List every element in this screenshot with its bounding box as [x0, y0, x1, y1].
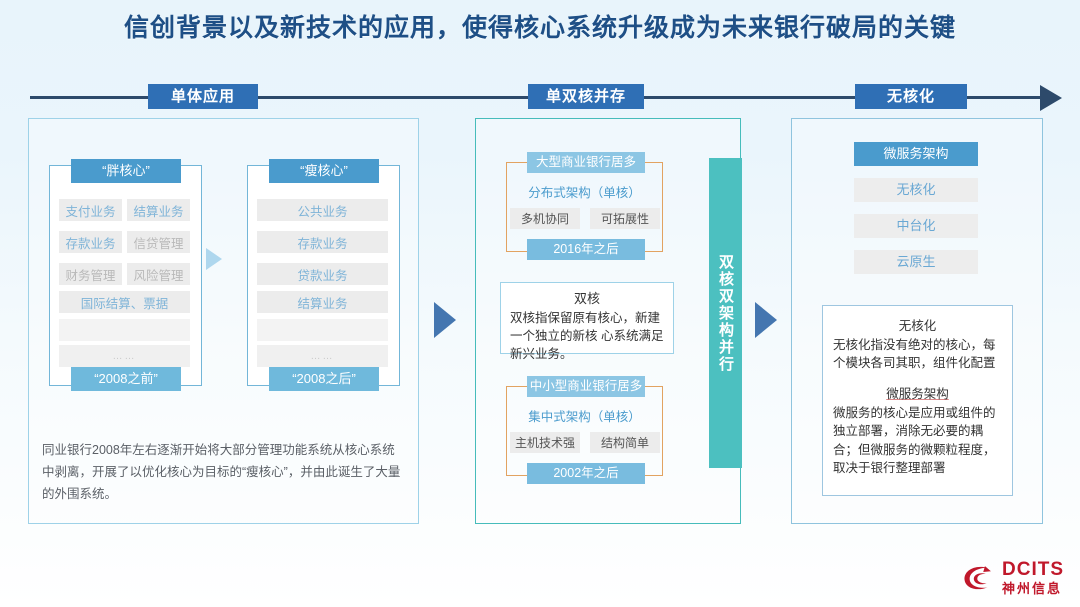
card-small-bank-footer: 2002年之后 — [527, 463, 645, 484]
fat-core-row-2: 存款业务 信贷管理 — [59, 231, 190, 253]
logo-cn: 神州信息 — [1002, 582, 1064, 595]
fat-core-row-4: 国际结算、票据 — [59, 291, 190, 313]
dual-core-title: 双核 — [501, 288, 673, 307]
phase-label-3[interactable]: 无核化 — [855, 84, 967, 109]
dcits-swirl-icon — [962, 562, 996, 594]
card-large-bank-footer: 2016年之后 — [527, 239, 645, 260]
fat-core-cell: 结算业务 — [127, 199, 190, 221]
thin-core-row: 公共业务 — [257, 199, 388, 221]
fat-core-cell: 信贷管理 — [127, 231, 190, 253]
logo-text: DCITS 神州信息 — [1002, 560, 1064, 595]
thin-core-cell-blank — [257, 319, 388, 341]
fat-core-cell: 存款业务 — [59, 231, 122, 253]
tag: 多机协同 — [510, 208, 580, 229]
fat-core-cell: 财务管理 — [59, 263, 122, 285]
card-thin-core: “瘦核心” 公共业务 存款业务 贷款业务 结算业务 …… “2008之后” — [247, 159, 400, 391]
card-small-bank: 中小型商业银行居多 集中式架构（单核） 主机技术强 结构简单 2002年之后 — [492, 376, 677, 484]
tag: 主机技术强 — [510, 432, 580, 453]
card-small-bank-tags: 主机技术强 结构简单 — [510, 432, 660, 453]
card-fat-core-footer: “2008之前” — [71, 367, 181, 391]
thin-core-row: 存款业务 — [257, 231, 388, 253]
fat-core-cell: 国际结算、票据 — [59, 291, 190, 313]
phase-label-2[interactable]: 单双核并存 — [528, 84, 644, 109]
card-fat-core: “胖核心” 支付业务 结算业务 存款业务 信贷管理 财务管理 风险管理 国际结算… — [49, 159, 202, 391]
phase-label-1[interactable]: 单体应用 — [148, 84, 258, 109]
thin-core-cell: 公共业务 — [257, 199, 388, 221]
card-thin-core-footer: “2008之后” — [269, 367, 379, 391]
logo-en: DCITS — [1002, 560, 1064, 579]
fat-core-row-3: 财务管理 风险管理 — [59, 263, 190, 285]
coreless-body-2: 微服务的核心是应用或组件的独立部署，消除无必要的耦合；但微服务的微颗粒程度，取决… — [823, 402, 1012, 477]
fat-core-row-blank — [59, 319, 190, 341]
thin-core-row: 结算业务 — [257, 291, 388, 313]
card-coreless-definition: 无核化 无核化指没有绝对的核心，每个模块各司其职，组件化配置 微服务架构 微服务… — [822, 305, 1013, 496]
thin-core-cell: 存款业务 — [257, 231, 388, 253]
right-card-title: 微服务架构 — [854, 142, 978, 166]
fat-core-cell-dots: …… — [59, 345, 190, 367]
right-item: 中台化 — [854, 214, 978, 238]
coreless-title-2: 微服务架构 — [823, 383, 1012, 402]
card-large-bank: 大型商业银行居多 分布式架构（单核） 多机协同 可拓展性 2016年之后 — [492, 152, 677, 260]
thin-core-cell: 结算业务 — [257, 291, 388, 313]
thin-core-row-dots: …… — [257, 345, 388, 367]
slide-root: 信创背景以及新技术的应用，使得核心系统升级成为未来银行破局的关键 单体应用 单双… — [0, 0, 1080, 607]
dual-core-body: 双核指保留原有核心，新建一个独立的新核 心系统满足新兴业务。 — [501, 307, 673, 363]
transition-arrow-icon — [206, 248, 222, 270]
fat-core-cell-blank — [59, 319, 190, 341]
thin-core-row: 贷款业务 — [257, 263, 388, 285]
fat-core-row-1: 支付业务 结算业务 — [59, 199, 190, 221]
card-small-bank-subtitle: 集中式架构（单核） — [492, 406, 677, 425]
right-item: 云原生 — [854, 250, 978, 274]
fat-core-cell: 支付业务 — [59, 199, 122, 221]
card-thin-core-title: “瘦核心” — [269, 159, 379, 183]
card-small-bank-title: 中小型商业银行居多 — [527, 376, 645, 397]
panel-arrow-1-icon — [434, 302, 456, 338]
left-panel-note: 同业银行2008年左右逐渐开始将大部分管理功能系统从核心系统中剥离，开展了以优化… — [42, 440, 402, 506]
panel-arrow-2-icon — [755, 302, 777, 338]
fat-core-row-dots: …… — [59, 345, 190, 367]
vertical-banner-dual-architecture: 双核双架构并行 — [709, 158, 742, 468]
timeline-arrow-icon — [1040, 85, 1062, 111]
tag: 结构简单 — [590, 432, 660, 453]
tag: 可拓展性 — [590, 208, 660, 229]
thin-core-cell: 贷款业务 — [257, 263, 388, 285]
card-large-bank-subtitle: 分布式架构（单核） — [492, 182, 677, 201]
page-title: 信创背景以及新技术的应用，使得核心系统升级成为未来银行破局的关键 — [0, 8, 1080, 44]
card-large-bank-title: 大型商业银行居多 — [527, 152, 645, 173]
fat-core-cell: 风险管理 — [127, 263, 190, 285]
coreless-body-1: 无核化指没有绝对的核心，每个模块各司其职，组件化配置 — [823, 334, 1012, 372]
brand-logo: DCITS 神州信息 — [962, 560, 1064, 595]
card-large-bank-tags: 多机协同 可拓展性 — [510, 208, 660, 229]
coreless-title-1: 无核化 — [823, 315, 1012, 334]
thin-core-row-blank — [257, 319, 388, 341]
right-item: 无核化 — [854, 178, 978, 202]
card-fat-core-title: “胖核心” — [71, 159, 181, 183]
thin-core-cell-dots: …… — [257, 345, 388, 367]
card-dual-core-definition: 双核 双核指保留原有核心，新建一个独立的新核 心系统满足新兴业务。 — [500, 282, 674, 354]
